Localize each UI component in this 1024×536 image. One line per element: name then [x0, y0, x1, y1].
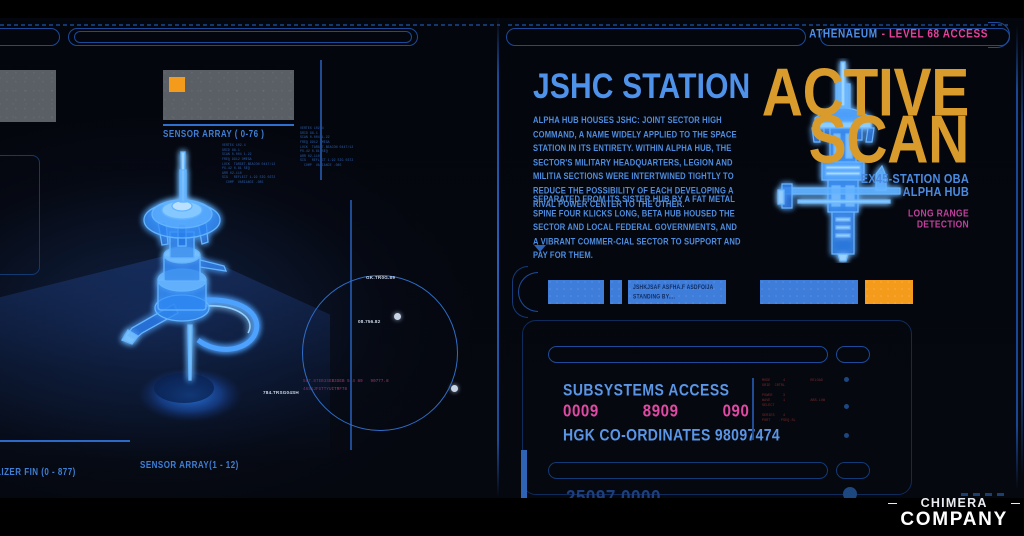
page-subtitle: EX45-STATION OBA ALPHA HUB LONG RANGE DE… [861, 172, 969, 229]
console-dot-1 [844, 377, 849, 382]
image-placeholder-left [0, 70, 56, 122]
subsystems-block: SUBSYSTEMS ACCESS 0009 8909 090 HGK CO-O… [563, 380, 780, 441]
divider-rule [163, 124, 294, 126]
edge-line-outer [1016, 26, 1018, 490]
subsystems-divider [752, 378, 754, 440]
header-dash-left [0, 24, 500, 26]
orange-status-chip [169, 77, 185, 92]
action-button-4[interactable] [760, 280, 858, 304]
station-paragraph-2: SEPARATED FROM ITS SISTER HUB BY A FAT M… [533, 192, 741, 262]
title-line-2: SCAN [762, 113, 969, 168]
station-title: JSHC STATION [533, 68, 750, 107]
orbit-marker-2 [451, 385, 458, 392]
accent-line-vertical-1 [320, 60, 322, 180]
subsystems-values: 0009 8909 090 [563, 401, 780, 421]
orbit-label-left: 784.TRSG04SH [263, 390, 299, 395]
orbit-label-top: GK.TR0G.89 [366, 275, 395, 280]
subsystem-value-1: 0009 [563, 401, 599, 421]
header-pill-left-inner [74, 31, 412, 43]
edge-line-inner [1021, 40, 1023, 476]
action-button-2[interactable] [610, 280, 622, 304]
logo-line-2: COMPANY [900, 510, 1008, 530]
ui-root: SENSOR ARRAY ( 0-76 ) VERTEX 102.4 GRID … [0, 0, 1024, 536]
access-level-badge: ATHENAEUM - LEVEL 68 ACCESS [809, 24, 988, 44]
brand-logo: CHIMERA COMPANY [900, 497, 1008, 530]
console-accent-bar [521, 450, 527, 498]
action-button-1[interactable] [548, 280, 604, 304]
action-button-status-label: JSHKJSAF ASFHA.F ASDFOIJA STANDING BY...… [633, 283, 713, 303]
coordinates-readout: HGK CO-ORDINATES 98097474 [563, 425, 780, 444]
chevron-down-icon[interactable] [534, 245, 546, 252]
access-level-secondary: - LEVEL 68 ACCESS [882, 28, 988, 41]
logo-line-1: CHIMERA [900, 497, 1008, 510]
micro-text-top: VERTEX 102.4 GRID 88.1 SCAN 0.004 1.22 F… [300, 126, 353, 168]
page-title: ACTIVE SCAN [762, 66, 969, 159]
tag-line-2: DETECTION [861, 218, 969, 231]
console-dot-3 [844, 433, 849, 438]
bottom-letterbox-band [0, 498, 1024, 536]
panel-divider [497, 18, 499, 498]
subsystem-value-2: 8909 [643, 401, 679, 421]
subtitle-line-2: ALPHA HUB [861, 185, 969, 201]
header-pill-right [506, 28, 806, 46]
subsystems-title: SUBSYSTEMS ACCESS [563, 380, 780, 399]
console-dot-2 [844, 404, 849, 409]
top-letterbox-band [0, 0, 1024, 18]
action-button-status[interactable]: JSHKJSAF ASFHA.F ASDFOIJA STANDING BY...… [628, 280, 726, 304]
access-level-primary: ATHENAEUM [809, 28, 878, 41]
subsystem-value-3: 090 [723, 401, 750, 421]
station-hologram-isometric [112, 140, 302, 440]
action-button-alert[interactable] [865, 280, 913, 304]
frame-decoration-left [0, 155, 40, 275]
orbit-ring [302, 275, 458, 431]
sensor-array-top-label: SENSOR ARRAY ( 0-76 ) [163, 128, 264, 139]
stabilizer-fin-label: LIZER FIN (0 - 877) [0, 466, 76, 477]
orbit-label-mid: 08.756.82 [358, 319, 381, 324]
header-pill-far-left [0, 28, 60, 46]
